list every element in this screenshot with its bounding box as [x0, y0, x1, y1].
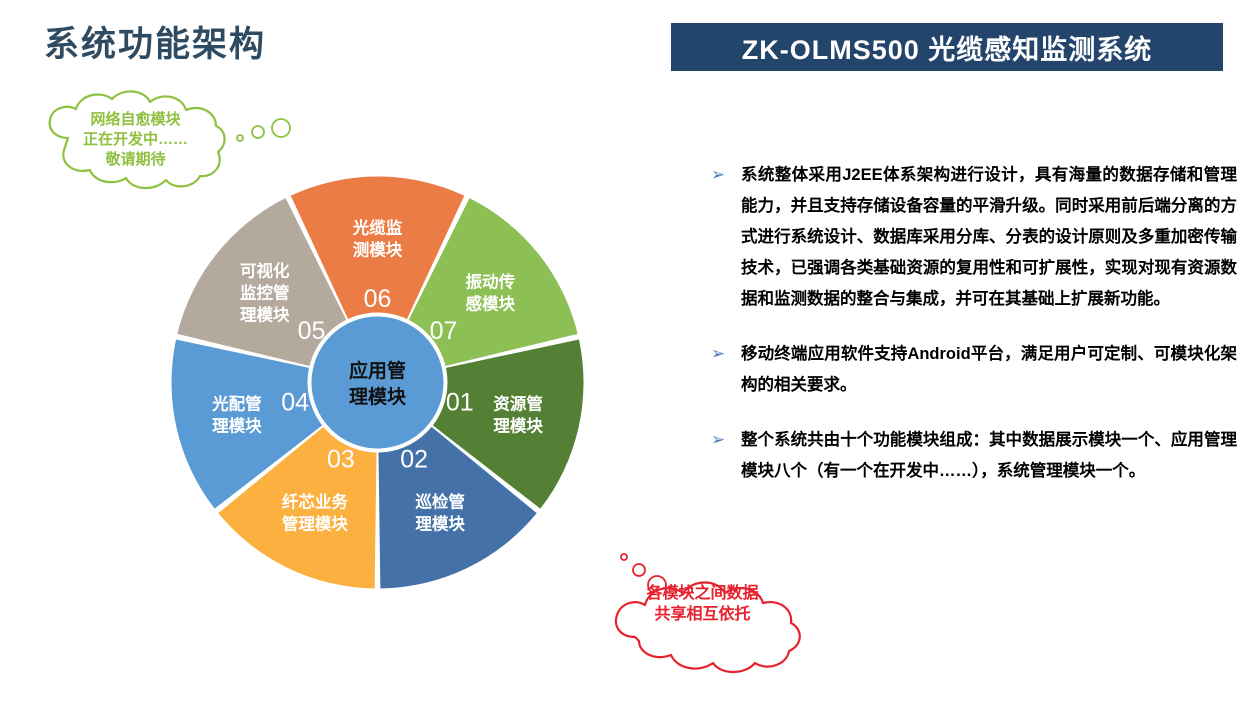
bullet-item: ➢ 整个系统共由十个功能模块组成：其中数据展示模块一个、应用管理模块八个（有一个… — [707, 425, 1237, 487]
cloud-green-text: 网络自愈模块 正在开发中…… 敬请期待 — [28, 110, 243, 169]
cloud-red-text: 各模块之间数据 共享相互依托 — [595, 583, 810, 625]
donut-slice-label-07: 感模块 — [465, 294, 515, 314]
page-title: 系统功能架构 — [44, 16, 266, 67]
cloud-green-line-2: 正在开发中…… — [28, 130, 243, 150]
donut-slice-label-03: 纤芯业务 — [282, 491, 349, 511]
donut-slice-number-05: 05 — [298, 317, 326, 345]
donut-slice-label-04: 理模块 — [212, 416, 262, 436]
donut-slice-number-03: 03 — [327, 446, 355, 474]
donut-slice-label-06: 测模块 — [353, 239, 403, 259]
donut-slice-label-05: 理模块 — [240, 305, 290, 325]
cloud-red-line-1: 各模块之间数据 — [595, 583, 810, 604]
donut-slice-number-01: 01 — [446, 388, 474, 416]
donut-hub-label-line2: 理模块 — [349, 385, 407, 408]
cloud-callout-red: 各模块之间数据 共享相互依托 — [595, 545, 845, 675]
bullet-item: ➢ 系统整体采用J2EE体系架构进行设计，具有海量的数据存储和管理能力，并且支持… — [707, 160, 1237, 315]
cloud-callout-green: 网络自愈模块 正在开发中…… 敬请期待 — [28, 86, 328, 206]
slide-root: 系统功能架构 ZK-OLMS500 光缆感知监测系统 光缆监测模块06振动传感模… — [0, 0, 1252, 702]
donut-slice-number-02: 02 — [400, 446, 428, 474]
donut-slice-label-01: 理模块 — [493, 416, 543, 436]
arrow-bullet-icon: ➢ — [707, 160, 741, 190]
donut-slice-label-06: 光缆监 — [352, 217, 403, 237]
donut-slice-label-02: 巡检管 — [415, 491, 465, 511]
cloud-green-line-3: 敬请期待 — [28, 150, 243, 170]
bullet-text-3: 整个系统共由十个功能模块组成：其中数据展示模块一个、应用管理模块八个（有一个在开… — [741, 425, 1237, 487]
bullet-list: ➢ 系统整体采用J2EE体系架构进行设计，具有海量的数据存储和管理能力，并且支持… — [707, 160, 1237, 511]
header-banner-title: ZK-OLMS500 光缆感知监测系统 — [742, 28, 1153, 67]
donut-slice-label-07: 振动传 — [465, 272, 515, 292]
donut-slice-number-07: 07 — [430, 317, 458, 345]
donut-slice-label-02: 理模块 — [415, 513, 465, 533]
header-banner: ZK-OLMS500 光缆感知监测系统 — [671, 23, 1223, 71]
donut-slice-label-05: 监控管 — [240, 283, 289, 303]
donut-slice-label-04: 光配管 — [211, 394, 262, 414]
module-donut-chart: 光缆监测模块06振动传感模块07资源管理模块01巡检管理模块02纤芯业务管理模块… — [150, 155, 605, 610]
arrow-bullet-icon: ➢ — [707, 339, 741, 369]
donut-hub-label-line1: 应用管 — [349, 359, 406, 382]
donut-slice-number-04: 04 — [281, 388, 309, 416]
bullet-text-1: 系统整体采用J2EE体系架构进行设计，具有海量的数据存储和管理能力，并且支持存储… — [741, 160, 1237, 315]
bullet-item: ➢ 移动终端应用软件支持Android平台，满足用户可定制、可模块化架构的相关要… — [707, 339, 1237, 401]
donut-slice-label-03: 管理模块 — [282, 513, 349, 533]
donut-slice-label-05: 可视化 — [240, 261, 290, 281]
cloud-green-line-1: 网络自愈模块 — [28, 110, 243, 130]
donut-slice-label-01: 资源管 — [493, 394, 542, 414]
donut-slice-number-06: 06 — [364, 285, 392, 313]
arrow-bullet-icon: ➢ — [707, 425, 741, 455]
donut-hub-circle[interactable] — [310, 315, 446, 451]
bullet-text-2: 移动终端应用软件支持Android平台，满足用户可定制、可模块化架构的相关要求。 — [741, 339, 1237, 401]
cloud-red-line-2: 共享相互依托 — [595, 604, 810, 625]
donut-svg: 光缆监测模块06振动传感模块07资源管理模块01巡检管理模块02纤芯业务管理模块… — [150, 155, 605, 610]
